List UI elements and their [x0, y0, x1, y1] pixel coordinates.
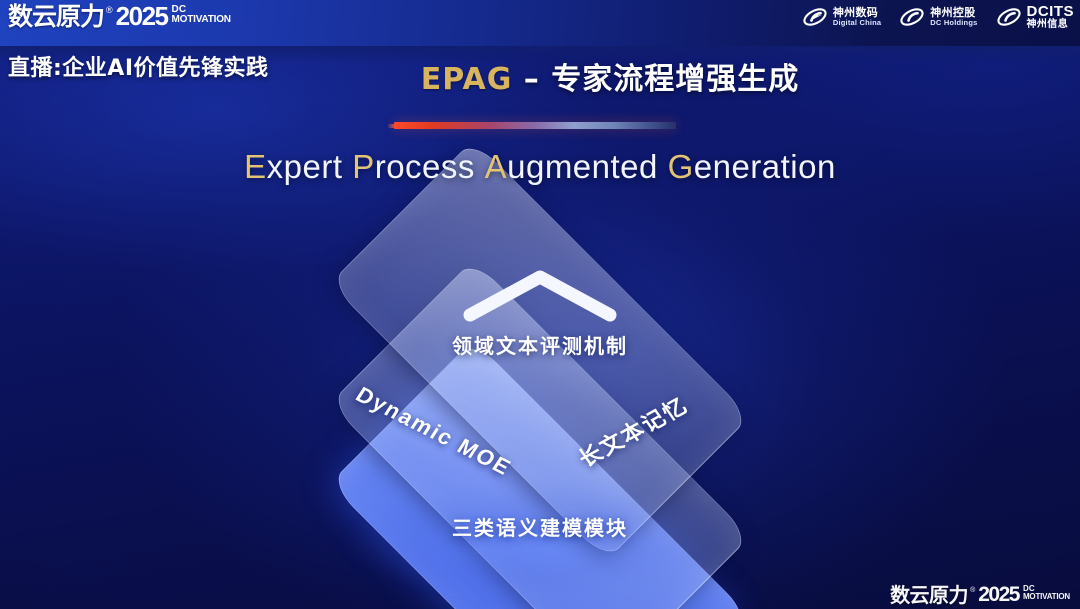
- partner-name-cn: DCITS: [1027, 4, 1075, 20]
- page-title-acronym: EPAG: [421, 62, 513, 97]
- diagram-label-bottom: 三类语义建模模块: [240, 512, 840, 541]
- swirl-logo-icon: [899, 4, 925, 30]
- diagram-label-top: 领域文本评测机制: [240, 330, 840, 359]
- chevron-up-icon: [458, 267, 622, 323]
- page-title-cn: 专家流程增强生成: [551, 62, 799, 97]
- partner-logo-group: 神州数码 Digital China 神州控股 DC Holdings: [802, 4, 1074, 30]
- swirl-logo-icon: [996, 4, 1022, 30]
- subtitle-rest-process: rocess: [375, 148, 475, 185]
- brand-name-cn: 数云原力: [8, 4, 104, 29]
- brand-logo: 数云原力 ® 2025 DC MOTIVATION: [8, 4, 231, 29]
- brand-year: 2025: [116, 4, 168, 29]
- subtitle-initial-a: A: [485, 148, 508, 185]
- subtitle-initial-e: E: [244, 148, 267, 185]
- partner-name-en: 神州信息: [1027, 20, 1075, 31]
- watermark-registered-mark: ®: [970, 587, 975, 594]
- brand-registered-mark: ®: [106, 6, 113, 15]
- partner-logo-text: 神州控股 DC Holdings: [930, 7, 977, 26]
- partner-logo-text: 神州数码 Digital China: [833, 7, 881, 26]
- subtitle-initial-g: G: [668, 148, 694, 185]
- subtitle-rest-generation: eneration: [694, 148, 836, 185]
- partner-logo-text: DCITS 神州信息: [1027, 4, 1075, 30]
- watermark-year: 2025: [978, 585, 1019, 605]
- partner-logo-dcits: DCITS 神州信息: [996, 4, 1075, 30]
- slide-canvas: 数云原力 ® 2025 DC MOTIVATION 直播:企业AI价值先锋实践 …: [0, 0, 1080, 609]
- subtitle-rest-expert: xpert: [267, 148, 343, 185]
- partner-logo-dc-holdings: 神州控股 DC Holdings: [899, 4, 977, 30]
- layered-architecture-diagram: 领域文本评测机制 Dynamic MOE 长文本记忆 三类语义建模模块: [240, 212, 840, 592]
- watermark-motivation-label: MOTIVATION: [1023, 593, 1070, 601]
- swirl-logo-icon: [802, 4, 828, 30]
- brand-motivation-label: MOTIVATION: [172, 15, 231, 25]
- subtitle-rest-augmented: ugmented: [507, 148, 658, 185]
- partner-logo-digital-china: 神州数码 Digital China: [802, 4, 881, 30]
- page-title-separator: –: [512, 62, 551, 97]
- watermark-motivation-block: DC MOTIVATION: [1023, 585, 1070, 601]
- live-stream-title: 直播:企业AI价值先锋实践: [8, 50, 269, 82]
- page-subtitle: Expert Process Augmented Generation: [0, 148, 1080, 186]
- partner-name-en: Digital China: [833, 19, 881, 27]
- partner-name-en: DC Holdings: [930, 19, 977, 27]
- footer-watermark-logo: 数云原力 ® 2025 DC MOTIVATION: [890, 585, 1070, 605]
- subtitle-initial-p: P: [352, 148, 375, 185]
- brand-motivation-block: DC MOTIVATION: [172, 5, 231, 25]
- divider-bar: [394, 122, 676, 129]
- watermark-name-cn: 数云原力: [890, 585, 968, 605]
